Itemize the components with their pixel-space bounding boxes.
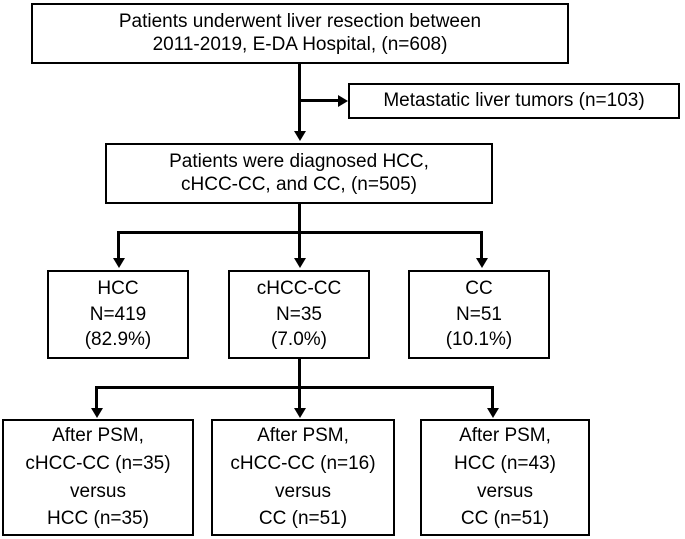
node-psm-3-line-4: CC (n=51): [461, 505, 549, 533]
node-psm-chcc-cc-vs-hcc: After PSM, cHCC-CC (n=35) versus HCC (n=…: [2, 419, 194, 536]
node-psm-1-line-4: HCC (n=35): [47, 505, 149, 533]
edge-drop-to-hcc: [117, 231, 120, 261]
edge-distributor-bar-2: [95, 386, 493, 389]
node-hcc: HCC N=419 (82.9%): [47, 270, 189, 359]
flowchart-canvas: Patients underwent liver resection betwe…: [0, 0, 685, 539]
edge-drop-to-chcccc: [298, 231, 301, 261]
node-psm-2-line-4: CC (n=51): [259, 505, 347, 533]
edge-drop-to-cc: [480, 231, 483, 261]
node-psm-hcc-vs-cc: After PSM, HCC (n=43) versus CC (n=51): [420, 419, 590, 536]
node-diagnosed-line-1: Patients were diagnosed HCC,: [169, 151, 429, 173]
arrowhead-to-psm-2: [294, 408, 306, 418]
node-diagnosed: Patients were diagnosed HCC, cHCC-CC, an…: [105, 143, 493, 204]
node-chcc-cc-line-2: N=35: [276, 302, 322, 328]
node-cohort-line-1: Patients underwent liver resection betwe…: [119, 11, 481, 33]
arrowhead-to-chcccc: [294, 258, 306, 268]
arrowhead-to-cc: [476, 258, 488, 268]
edge-diagnosed-stem: [298, 204, 301, 234]
node-chcc-cc-line-1: cHCC-CC: [257, 276, 341, 302]
node-cohort-line-2: 2011-2019, E-DA Hospital, (n=608): [153, 34, 448, 56]
node-metastatic-exclusion: Metastatic liver tumors (n=103): [348, 83, 680, 119]
node-psm-2-line-3: versus: [275, 478, 331, 506]
node-psm-2-line-1: After PSM,: [257, 422, 349, 450]
node-psm-1-line-3: versus: [70, 478, 126, 506]
arrowhead-cohort-to-metastatic: [338, 95, 348, 107]
node-chcc-cc-line-3: (7.0%): [271, 327, 327, 353]
node-hcc-line-1: HCC: [97, 276, 138, 302]
node-cohort: Patients underwent liver resection betwe…: [31, 3, 569, 64]
arrowhead-cohort-to-diagnosed: [294, 131, 306, 141]
arrowhead-to-psm-1: [91, 408, 103, 418]
node-psm-3-line-2: HCC (n=43): [454, 450, 556, 478]
node-chcc-cc: cHCC-CC N=35 (7.0%): [228, 270, 370, 359]
node-cc-line-3: (10.1%): [446, 327, 513, 353]
node-cc-line-2: N=51: [456, 302, 502, 328]
edge-cohort-to-metastatic: [298, 99, 340, 102]
node-diagnosed-line-2: cHCC-CC, and CC, (n=505): [181, 174, 417, 196]
node-psm-1-line-2: cHCC-CC (n=35): [25, 450, 170, 478]
node-hcc-line-3: (82.9%): [85, 327, 152, 353]
node-psm-3-line-1: After PSM,: [459, 422, 551, 450]
node-psm-2-line-2: cHCC-CC (n=16): [230, 450, 375, 478]
node-psm-3-line-3: versus: [477, 478, 533, 506]
arrowhead-to-hcc: [113, 258, 125, 268]
node-hcc-line-2: N=419: [90, 302, 147, 328]
arrowhead-to-psm-3: [487, 408, 499, 418]
node-cc-line-1: CC: [465, 276, 492, 302]
node-psm-chcc-cc-vs-cc: After PSM, cHCC-CC (n=16) versus CC (n=5…: [211, 419, 395, 536]
node-cc: CC N=51 (10.1%): [408, 270, 550, 359]
node-metastatic-line-1: Metastatic liver tumors (n=103): [383, 90, 644, 112]
edge-chcc-cc-stem: [298, 359, 301, 389]
node-psm-1-line-1: After PSM,: [52, 422, 144, 450]
